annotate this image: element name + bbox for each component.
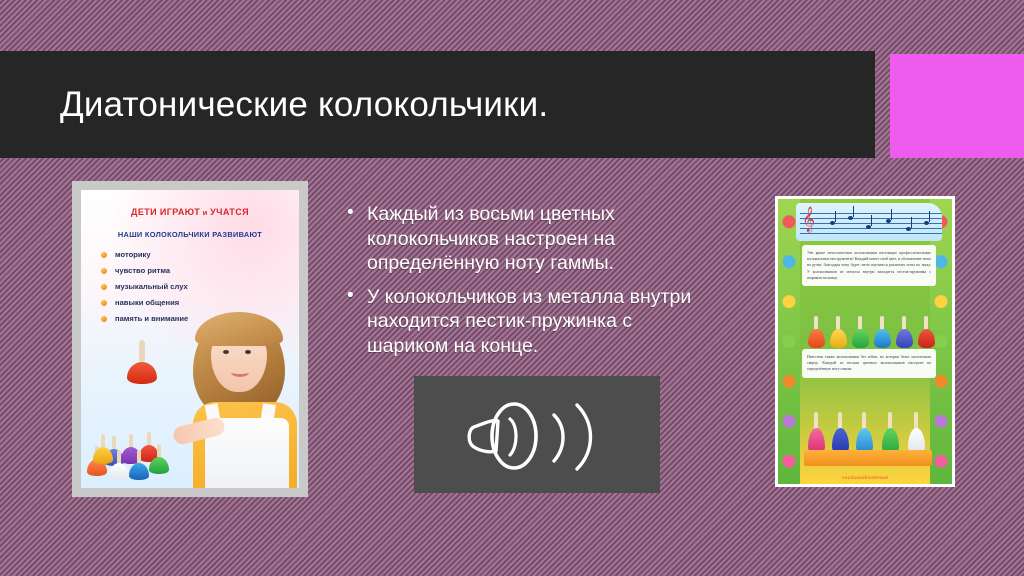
list-item: память и внимание (101, 314, 299, 323)
right-poster-paragraph-2: Известны также колокольчики без юбки, но… (807, 354, 931, 373)
left-poster-heading: ДЕТИ ИГРАЮТ и УЧАТСЯ (81, 207, 299, 217)
bell-stand (804, 450, 932, 466)
child-photo-illustration (177, 306, 299, 488)
right-poster-text-block-2: Известны также колокольчики без юбки, но… (802, 349, 936, 378)
handbells-row-bottom (804, 392, 934, 454)
left-poster-heading-main: ДЕТИ ИГРАЮТ (131, 207, 200, 217)
bullet-list: Каждый из восьми цветных колокольчиков н… (345, 202, 697, 367)
left-poster-heading-conj: и (200, 208, 210, 217)
title-bar: Диатонические колокольчики. (0, 51, 875, 158)
list-item: навыки общения (101, 298, 299, 307)
left-poster-image: ДЕТИ ИГРАЮТ и УЧАТСЯ НАШИ КОЛОКОЛЬЧИКИ Р… (72, 181, 308, 497)
treble-clef-icon: 𝄞 (802, 208, 815, 230)
left-poster-subheading: НАШИ КОЛОКОЛЬЧИКИ РАЗВИВАЮТ (81, 230, 299, 239)
list-item: моторику (101, 250, 299, 259)
right-poster-text-block-1: Эти яркие металлические колокольчики нас… (802, 245, 936, 286)
list-item: чувство ритма (101, 266, 299, 275)
accent-block (890, 54, 1024, 158)
right-poster-paragraph-1: Эти яркие металлические колокольчики нас… (807, 250, 931, 281)
right-poster-image: 𝄞 Эти яркие металлические колокольчики н… (775, 196, 955, 487)
red-handbell-illustration (127, 340, 157, 384)
right-poster-canvas: 𝄞 Эти яркие металлические колокольчики н… (778, 199, 952, 484)
handbells-row-top (806, 312, 934, 348)
left-poster-heading-tail: УЧАТСЯ (210, 207, 249, 217)
left-poster-benefit-list: моторику чувство ритма музыкальный слух … (101, 250, 299, 323)
music-notes-banner: 𝄞 (796, 203, 942, 241)
bullet-item: У колокольчиков из металла внутри находи… (345, 285, 697, 359)
speaker-sound-icon (462, 395, 612, 475)
bullet-item: Каждый из восьми цветных колокольчиков н… (345, 202, 697, 276)
page-title: Диатонические колокольчики. (0, 85, 548, 125)
sound-icon-box[interactable] (414, 376, 660, 493)
left-poster-canvas: ДЕТИ ИГРАЮТ и УЧАТСЯ НАШИ КОЛОКОЛЬЧИКИ Р… (81, 190, 299, 488)
decorative-border-left (778, 199, 800, 484)
watermark-text: sozdumaikindetsad (778, 475, 952, 480)
list-item: музыкальный слух (101, 282, 299, 291)
